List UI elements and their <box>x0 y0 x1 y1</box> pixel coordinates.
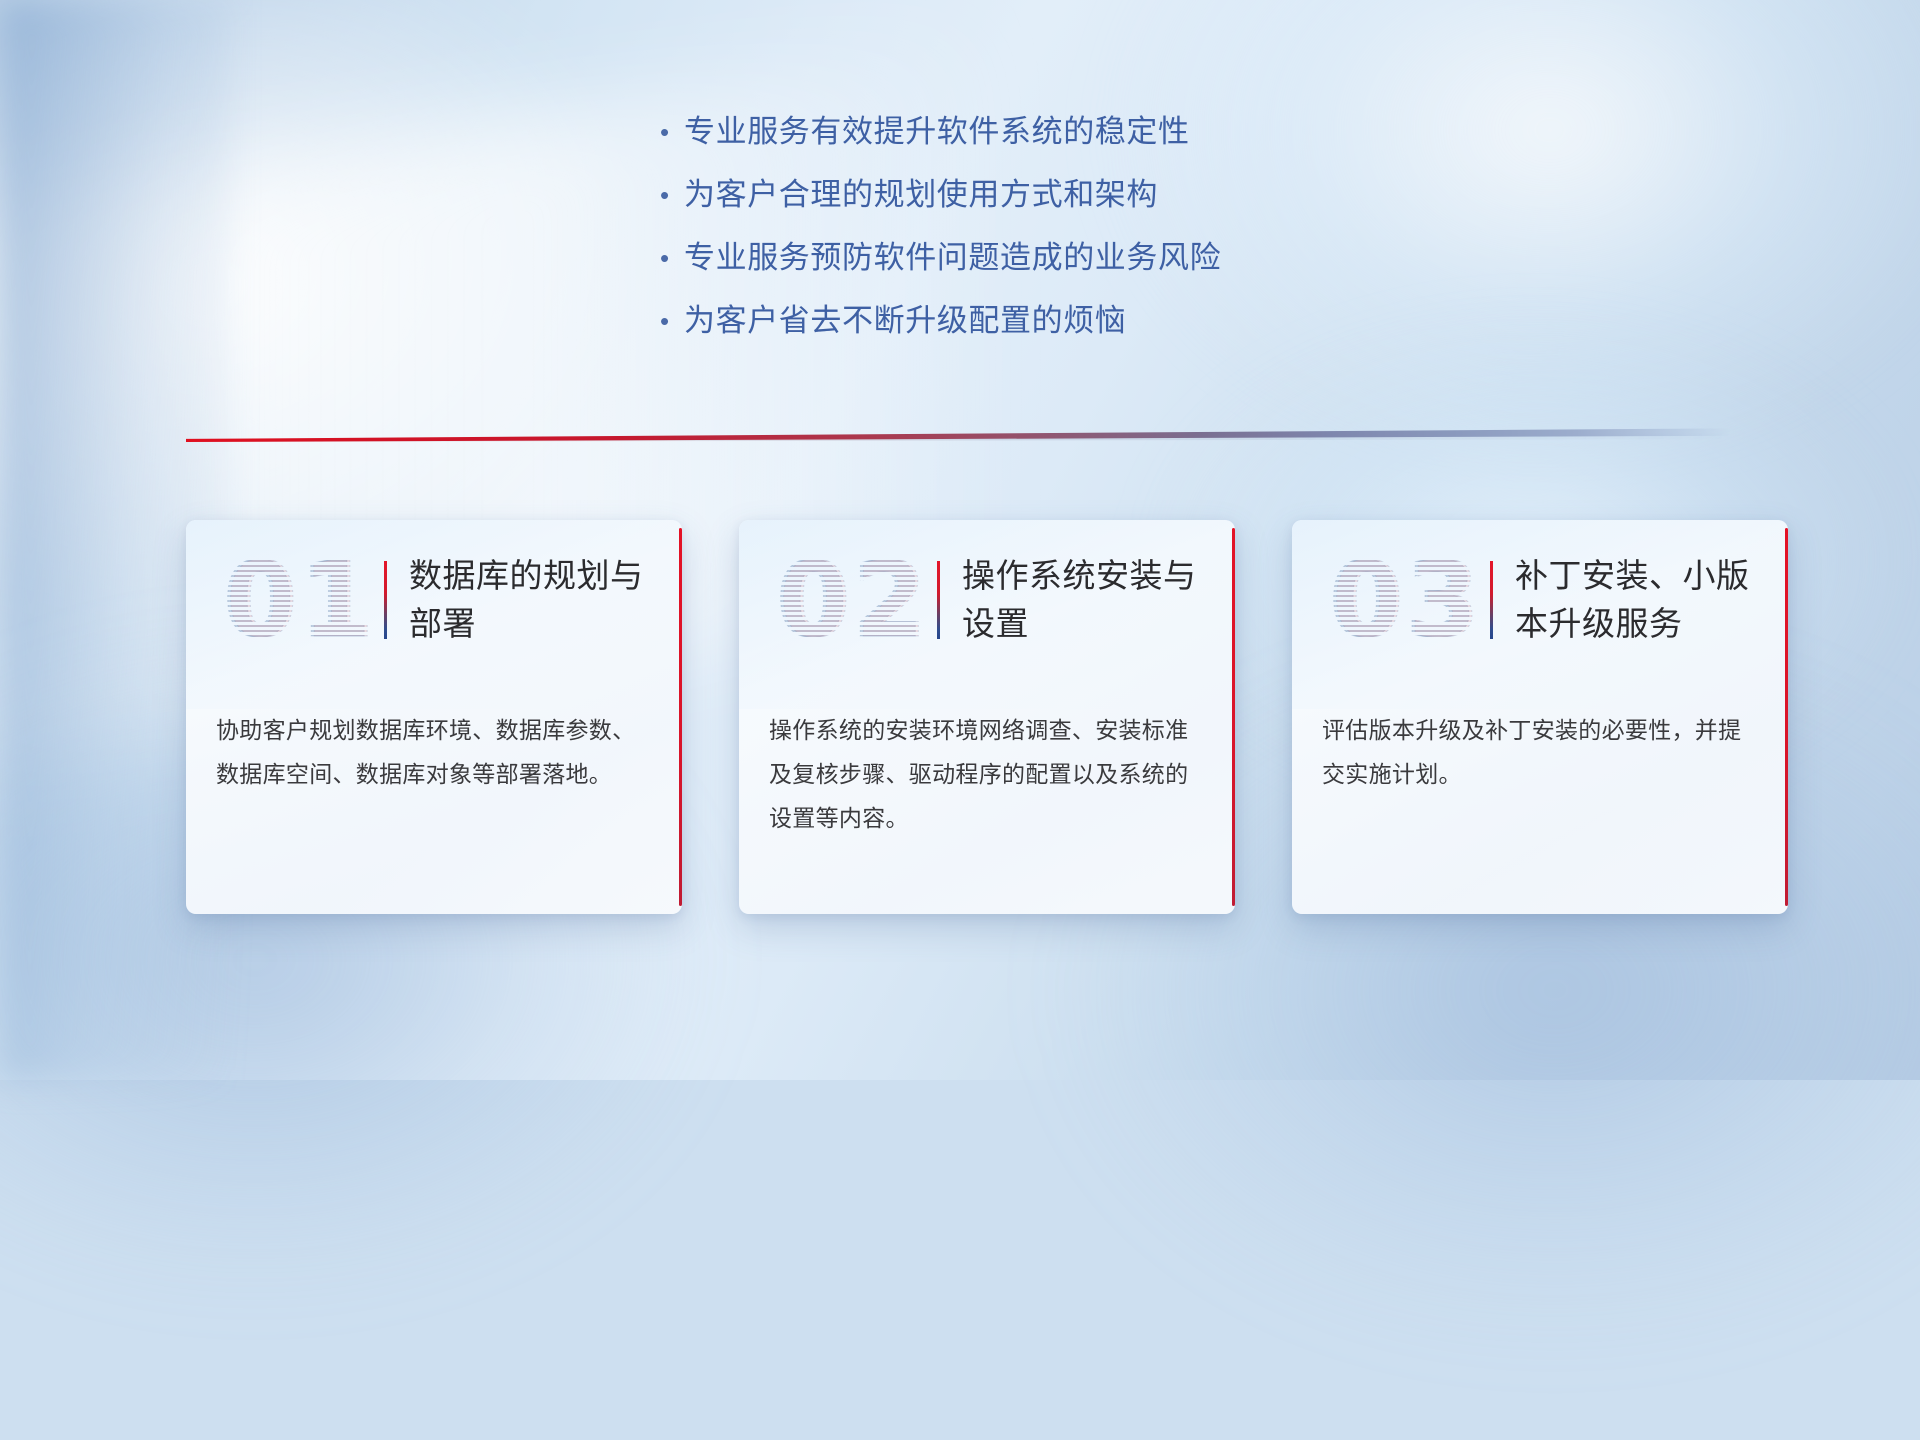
bullet-text: 专业服务预防软件问题造成的业务风险 <box>684 236 1221 280</box>
card-title-divider <box>1490 561 1493 639</box>
card-description: 操作系统的安装环境网络调查、安装标准及复核步骤、驱动程序的配置以及系统的设置等内… <box>769 708 1199 840</box>
card-number-ghost: 03 <box>1323 540 1493 660</box>
card-header: 0101 数据库的规划与部署 <box>186 520 682 680</box>
bullet-marker-icon: • <box>660 236 684 280</box>
card-title: 数据库的规划与部署 <box>409 552 655 648</box>
list-item: • 为客户合理的规划使用方式和架构 <box>660 173 1420 217</box>
benefits-bullet-list: • 专业服务有效提升软件系统的稳定性 • 为客户合理的规划使用方式和架构 • 专… <box>660 110 1420 362</box>
list-item: • 为客户省去不断升级配置的烦恼 <box>660 299 1420 343</box>
card-title: 操作系统安装与设置 <box>962 552 1208 648</box>
card-number-ghost: 01 <box>217 540 387 660</box>
service-card-02[interactable]: 0202 操作系统安装与设置 操作系统的安装环境网络调查、安装标准及复核步骤、驱… <box>739 520 1235 914</box>
bullet-marker-icon: • <box>660 110 684 154</box>
card-title: 补丁安装、小版本升级服务 <box>1515 552 1761 648</box>
card-number: 0303 <box>1320 540 1490 660</box>
list-item: • 专业服务预防软件问题造成的业务风险 <box>660 236 1420 280</box>
bullet-text: 为客户合理的规划使用方式和架构 <box>684 173 1158 217</box>
bullet-marker-icon: • <box>660 299 684 343</box>
card-title-divider <box>384 561 387 639</box>
card-number-ghost: 02 <box>770 540 940 660</box>
service-card-03[interactable]: 0303 补丁安装、小版本升级服务 评估版本升级及补丁安装的必要性，并提交实施计… <box>1292 520 1788 914</box>
service-card-list: 0101 数据库的规划与部署 协助客户规划数据库环境、数据库参数、数据库空间、数… <box>186 520 1788 914</box>
card-description: 协助客户规划数据库环境、数据库参数、数据库空间、数据库对象等部署落地。 <box>216 708 646 796</box>
card-header: 0202 操作系统安装与设置 <box>739 520 1235 680</box>
card-title-divider <box>937 561 940 639</box>
card-number: 0101 <box>214 540 384 660</box>
bullet-text: 专业服务有效提升软件系统的稳定性 <box>684 110 1190 154</box>
card-description: 评估版本升级及补丁安装的必要性，并提交实施计划。 <box>1322 708 1752 796</box>
bullet-text: 为客户省去不断升级配置的烦恼 <box>684 299 1126 343</box>
bullet-marker-icon: • <box>660 173 684 217</box>
section-divider <box>186 420 1731 442</box>
card-number: 0202 <box>767 540 937 660</box>
list-item: • 专业服务有效提升软件系统的稳定性 <box>660 110 1420 154</box>
card-header: 0303 补丁安装、小版本升级服务 <box>1292 520 1788 680</box>
service-card-01[interactable]: 0101 数据库的规划与部署 协助客户规划数据库环境、数据库参数、数据库空间、数… <box>186 520 682 914</box>
